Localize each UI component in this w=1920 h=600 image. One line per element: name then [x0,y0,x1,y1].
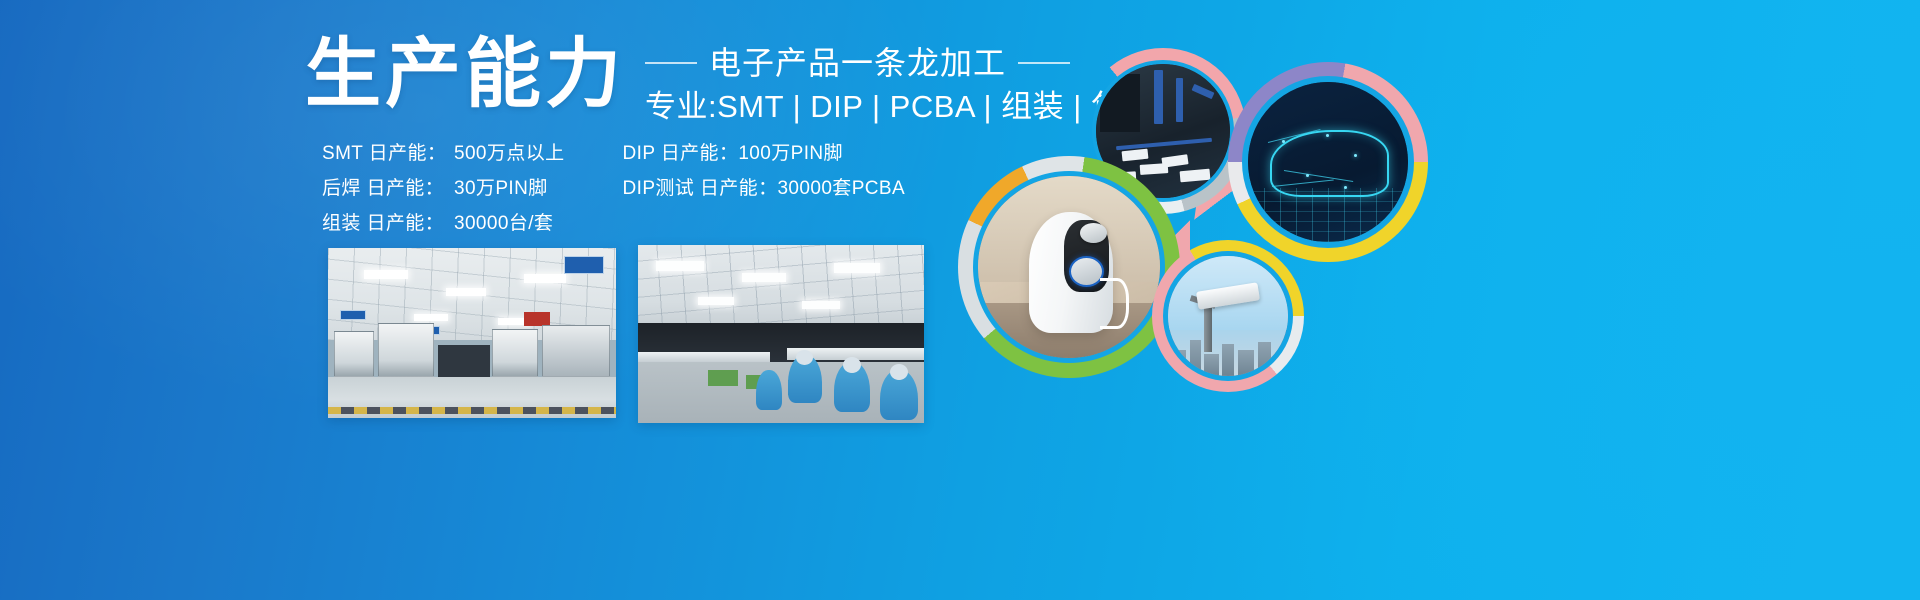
stat-value: 30000台/套 [454,212,553,236]
machine [334,331,374,377]
worker [756,370,782,410]
ceiling-lamp [656,261,704,271]
smt-area-sign [564,256,604,274]
camera-pole [1204,304,1212,352]
product-circles-cluster [940,14,1420,364]
air-fryer-product-circle [978,176,1160,358]
car-wireframe [1270,130,1388,197]
security-camera-circle [1168,256,1288,376]
building [1204,354,1219,376]
blue-cylinder [1154,70,1163,124]
tech-node [1306,174,1309,177]
floor-warning-stripe [328,407,616,414]
monitor [438,345,490,377]
stat-label: 后焊 日产能： [322,177,444,201]
production-capacity-banner: 生产能力 电子产品一条龙加工 专业:SMT | DIP | PCBA | 组装 … [0,0,1920,600]
building [1238,350,1254,376]
stat-row: 组装 日产能： 30000台/套 [322,212,565,236]
tech-node [1282,140,1285,143]
page-title: 生产能力 [305,36,625,114]
stat-value: 500万点以上 [454,142,565,166]
ceiling-lamp [414,314,448,321]
stat-row: DIP 日产能：100万PIN脚 [623,142,906,166]
ceiling-lamp [802,301,840,309]
component-tray [708,370,738,386]
building [1222,344,1234,376]
machine [492,329,538,377]
building [1190,340,1201,376]
building [1258,342,1271,376]
ceiling-lamp [524,274,566,283]
stat-row: SMT 日产能： 500万点以上 [322,142,565,166]
tech-node [1354,154,1357,157]
stat-row: 后焊 日产能： 30万PIN脚 [322,177,565,201]
tech-node [1344,186,1347,189]
ceiling-lamp [698,297,734,305]
appliance-handle [1100,278,1129,329]
machine [378,323,434,377]
capacity-stats: SMT 日产能： 500万点以上 后焊 日产能： 30万PIN脚 组装 日产能：… [322,142,905,236]
assembly-line-photo [638,245,924,423]
display-dial [1069,256,1104,287]
smt-workshop-photo [328,248,616,418]
automotive-tech-circle [1248,82,1408,242]
rule-left-icon [645,62,697,64]
area-sign [340,310,366,320]
ceiling-lamp [834,263,880,273]
ceiling-lamp [742,273,786,282]
blue-cylinder [1176,78,1183,122]
ceiling-lamp [364,270,408,279]
stat-label: 组装 日产能： [322,212,444,236]
worker-head [796,350,813,365]
tech-node [1326,134,1329,137]
building [1172,350,1186,376]
stats-left-column: SMT 日产能： 500万点以上 后焊 日产能： 30万PIN脚 组装 日产能：… [322,142,565,236]
stat-value: 30万PIN脚 [454,177,548,201]
machine [542,325,610,377]
digital-display [524,312,550,326]
ceiling-grid [638,245,924,327]
stat-row: DIP测试 日产能：30000套PCBA [623,177,906,201]
stat-spacer [444,212,454,236]
city-skyline [1168,328,1288,376]
stat-spacer [444,177,454,201]
ceiling-lamp [446,288,486,296]
stat-spacer [444,142,454,166]
machine-block [1100,74,1140,132]
conveyor-bench [638,352,770,362]
stats-right-column: DIP 日产能：100万PIN脚 DIP测试 日产能：30000套PCBA [623,142,906,236]
stat-label: SMT 日产能： [322,142,444,166]
